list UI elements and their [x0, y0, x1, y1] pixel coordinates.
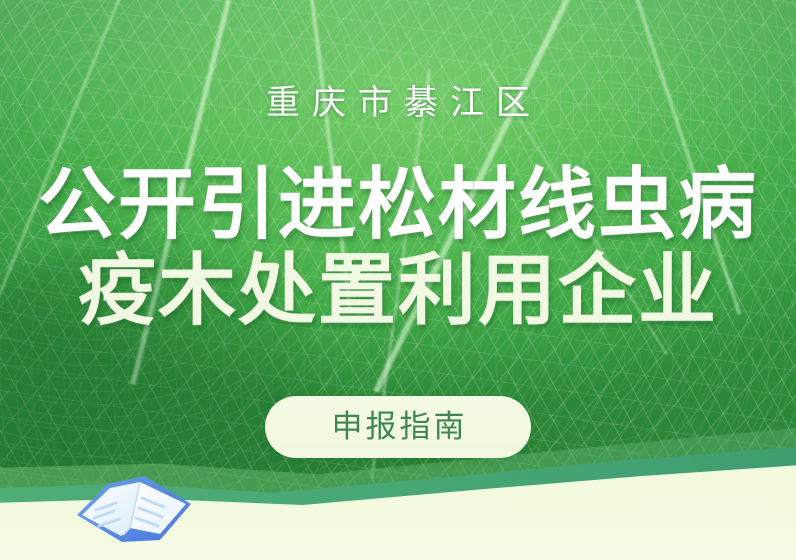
- poster-title-line-1: 公开引进松材线虫病: [0, 166, 796, 244]
- declaration-guide-button-label: 申报指南: [329, 412, 468, 443]
- poster-banner: 重庆市綦江区 公开引进松材线虫病 疫木处置利用企业 申报指南: [0, 0, 796, 560]
- open-book-icon: [74, 470, 194, 548]
- poster-title-line-2: 疫木处置利用企业: [0, 252, 796, 330]
- declaration-guide-button[interactable]: 申报指南: [265, 396, 531, 458]
- poster-subtitle: 重庆市綦江区: [0, 86, 796, 120]
